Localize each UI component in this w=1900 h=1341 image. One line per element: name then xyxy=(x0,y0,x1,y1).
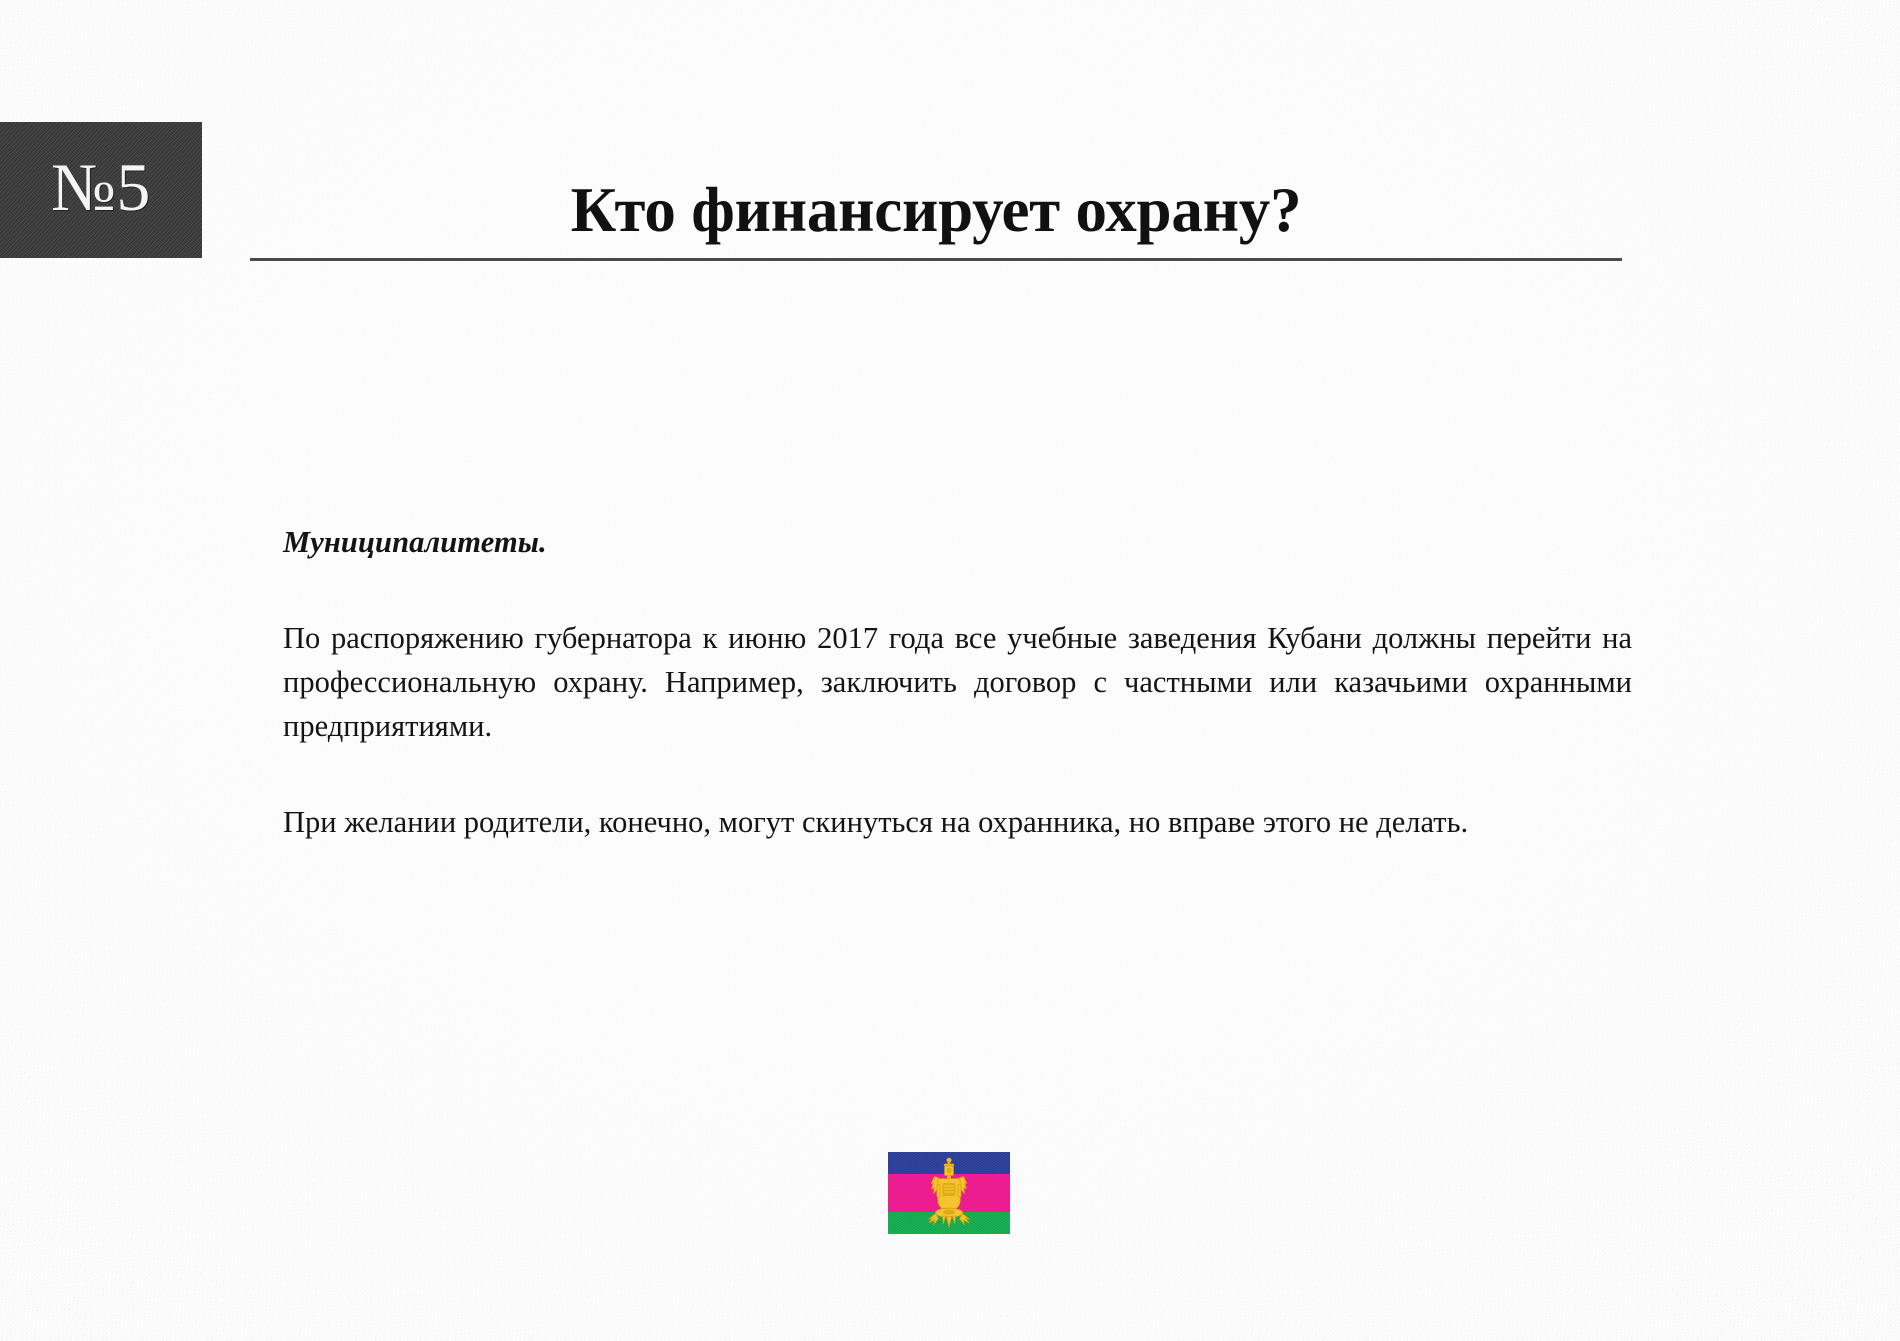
title-divider xyxy=(250,258,1622,261)
slide-number-badge: №5 xyxy=(0,122,202,258)
page-title: Кто финансирует охрану? xyxy=(250,175,1622,246)
slide-canvas: №5 Кто финансирует охрану? Муниципалитет… xyxy=(0,0,1900,1341)
flag-graphic xyxy=(888,1152,1010,1234)
slide-number-label: №5 xyxy=(51,153,151,221)
kuban-flag-image xyxy=(888,1152,1010,1234)
kuban-coat-of-arms-icon xyxy=(918,1157,980,1231)
body-content: Муниципалитеты. По распоряжению губернат… xyxy=(283,520,1632,844)
body-paragraph-2: При желании родители, конечно, могут ски… xyxy=(283,800,1632,844)
body-lede: Муниципалитеты. xyxy=(283,520,1632,564)
body-paragraph-1: По распоряжению губернатора к июню 2017 … xyxy=(283,616,1632,748)
